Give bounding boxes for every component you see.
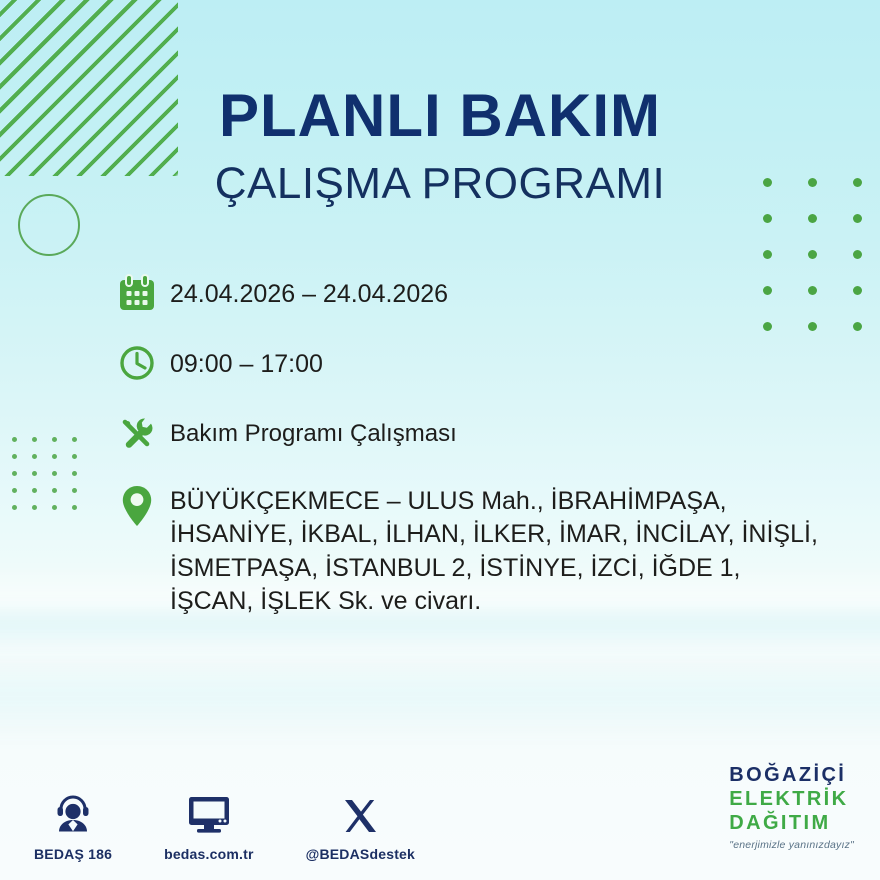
dot-grid-decoration-left	[12, 437, 92, 522]
tools-icon	[118, 412, 170, 462]
planned-maintenance-poster: PLANLI BAKIM ÇALIŞMA PROGRAMI	[0, 0, 880, 880]
brand-line-elektrik: ELEKTRİK	[729, 789, 854, 809]
clock-icon	[118, 342, 170, 392]
contact-social-label: @BEDASdestek	[306, 846, 415, 862]
detail-row-work-type: Bakım Programı Çalışması	[118, 412, 838, 462]
contact-phone[interactable]: BEDAŞ 186	[34, 790, 112, 862]
affected-area-text: BÜYÜKÇEKMECE – ULUS Mah., İBRAHİMPAŞA, İ…	[170, 482, 830, 618]
bedas-logo: BOĞAZİÇİ ELEKTRİK DAĞITIM "enerjimizle y…	[729, 765, 854, 851]
calendar-icon	[118, 272, 170, 322]
page-title: PLANLI BAKIM	[0, 86, 880, 146]
brand-line-bogazici: BOĞAZİÇİ	[729, 765, 854, 785]
brand-tagline: "enerjimizle yanınızdayız"	[729, 840, 854, 851]
date-range-text: 24.04.2026 – 24.04.2026	[170, 272, 448, 311]
x-twitter-icon	[340, 790, 380, 836]
background-wave-band-secondary	[0, 655, 880, 745]
brand-line-dagitim: DAĞITIM	[729, 813, 854, 833]
poster-title-block: PLANLI BAKIM ÇALIŞMA PROGRAMI	[0, 86, 880, 206]
detail-row-date: 24.04.2026 – 24.04.2026	[118, 272, 838, 322]
detail-row-location: BÜYÜKÇEKMECE – ULUS Mah., İBRAHİMPAŞA, İ…	[118, 482, 838, 618]
page-subtitle: ÇALIŞMA PROGRAMI	[0, 162, 880, 206]
monitor-icon	[186, 790, 232, 836]
call-center-agent-icon	[52, 790, 94, 836]
contact-website-label: bedas.com.tr	[164, 846, 254, 862]
contact-channels: BEDAŞ 186 bedas.com.tr	[34, 790, 415, 862]
poster-footer: BEDAŞ 186 bedas.com.tr	[0, 766, 880, 862]
maintenance-details: 24.04.2026 – 24.04.2026 09:00 – 17:00	[118, 272, 838, 618]
contact-phone-label: BEDAŞ 186	[34, 846, 112, 862]
contact-social[interactable]: @BEDASdestek	[306, 790, 415, 862]
time-range-text: 09:00 – 17:00	[170, 342, 323, 381]
work-type-text: Bakım Programı Çalışması	[170, 412, 457, 450]
contact-website[interactable]: bedas.com.tr	[164, 790, 254, 862]
location-pin-icon	[118, 482, 170, 532]
detail-row-time: 09:00 – 17:00	[118, 342, 838, 392]
